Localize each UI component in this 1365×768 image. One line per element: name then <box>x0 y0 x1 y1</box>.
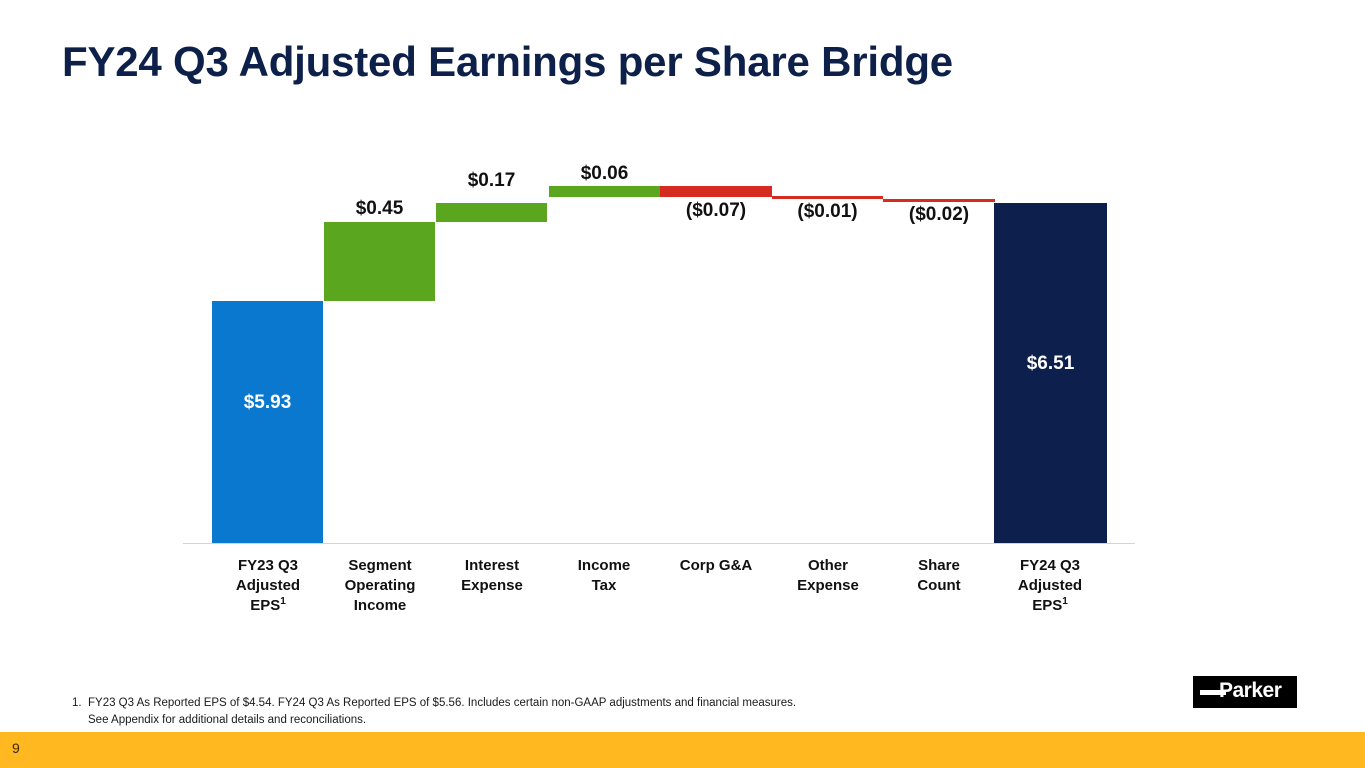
bar-value-label: $0.06 <box>549 163 660 185</box>
footnote: 1.FY23 Q3 As Reported EPS of $4.54. FY24… <box>72 695 952 730</box>
bar-value-label: $0.17 <box>436 170 547 192</box>
category-label: IncomeTax <box>544 556 664 596</box>
bar-value-label: ($0.07) <box>660 200 772 222</box>
footnote-line-1: FY23 Q3 As Reported EPS of $4.54. FY24 Q… <box>88 697 796 709</box>
bar-value-label: $6.51 <box>994 353 1107 375</box>
category-label: SegmentOperatingIncome <box>320 556 440 615</box>
parker-logo: Parker <box>1193 676 1297 708</box>
category-label: ShareCount <box>879 556 999 596</box>
bar-decrease <box>883 199 995 202</box>
page-number: 9 <box>12 740 20 756</box>
bar-increase <box>436 203 547 222</box>
logo-wordmark: Parker <box>1219 679 1281 703</box>
bar-value-label: $0.45 <box>324 198 435 220</box>
bar-increase <box>549 186 660 197</box>
category-label: OtherExpense <box>768 556 888 596</box>
category-label: FY24 Q3AdjustedEPS1 <box>990 556 1110 615</box>
bar-increase <box>324 222 435 301</box>
category-label: InterestExpense <box>432 556 552 596</box>
footnote-line-2: See Appendix for additional details and … <box>72 712 952 729</box>
bar-decrease <box>660 186 772 197</box>
bar-value-label: ($0.01) <box>772 201 883 223</box>
chart-axis-line <box>183 543 1135 544</box>
bar-total <box>212 301 323 543</box>
bar-decrease <box>772 196 883 199</box>
bar-value-label: $5.93 <box>212 392 323 414</box>
slide: FY24 Q3 Adjusted Earnings per Share Brid… <box>0 0 1365 768</box>
category-label: Corp G&A <box>656 556 776 576</box>
waterfall-chart: $5.93$0.45$0.17$0.06($0.07)($0.01)($0.02… <box>0 0 1365 660</box>
bar-value-label: ($0.02) <box>883 204 995 226</box>
footnote-number: 1. <box>72 695 88 712</box>
category-label: FY23 Q3AdjustedEPS1 <box>208 556 328 615</box>
footer-bar <box>0 732 1365 768</box>
